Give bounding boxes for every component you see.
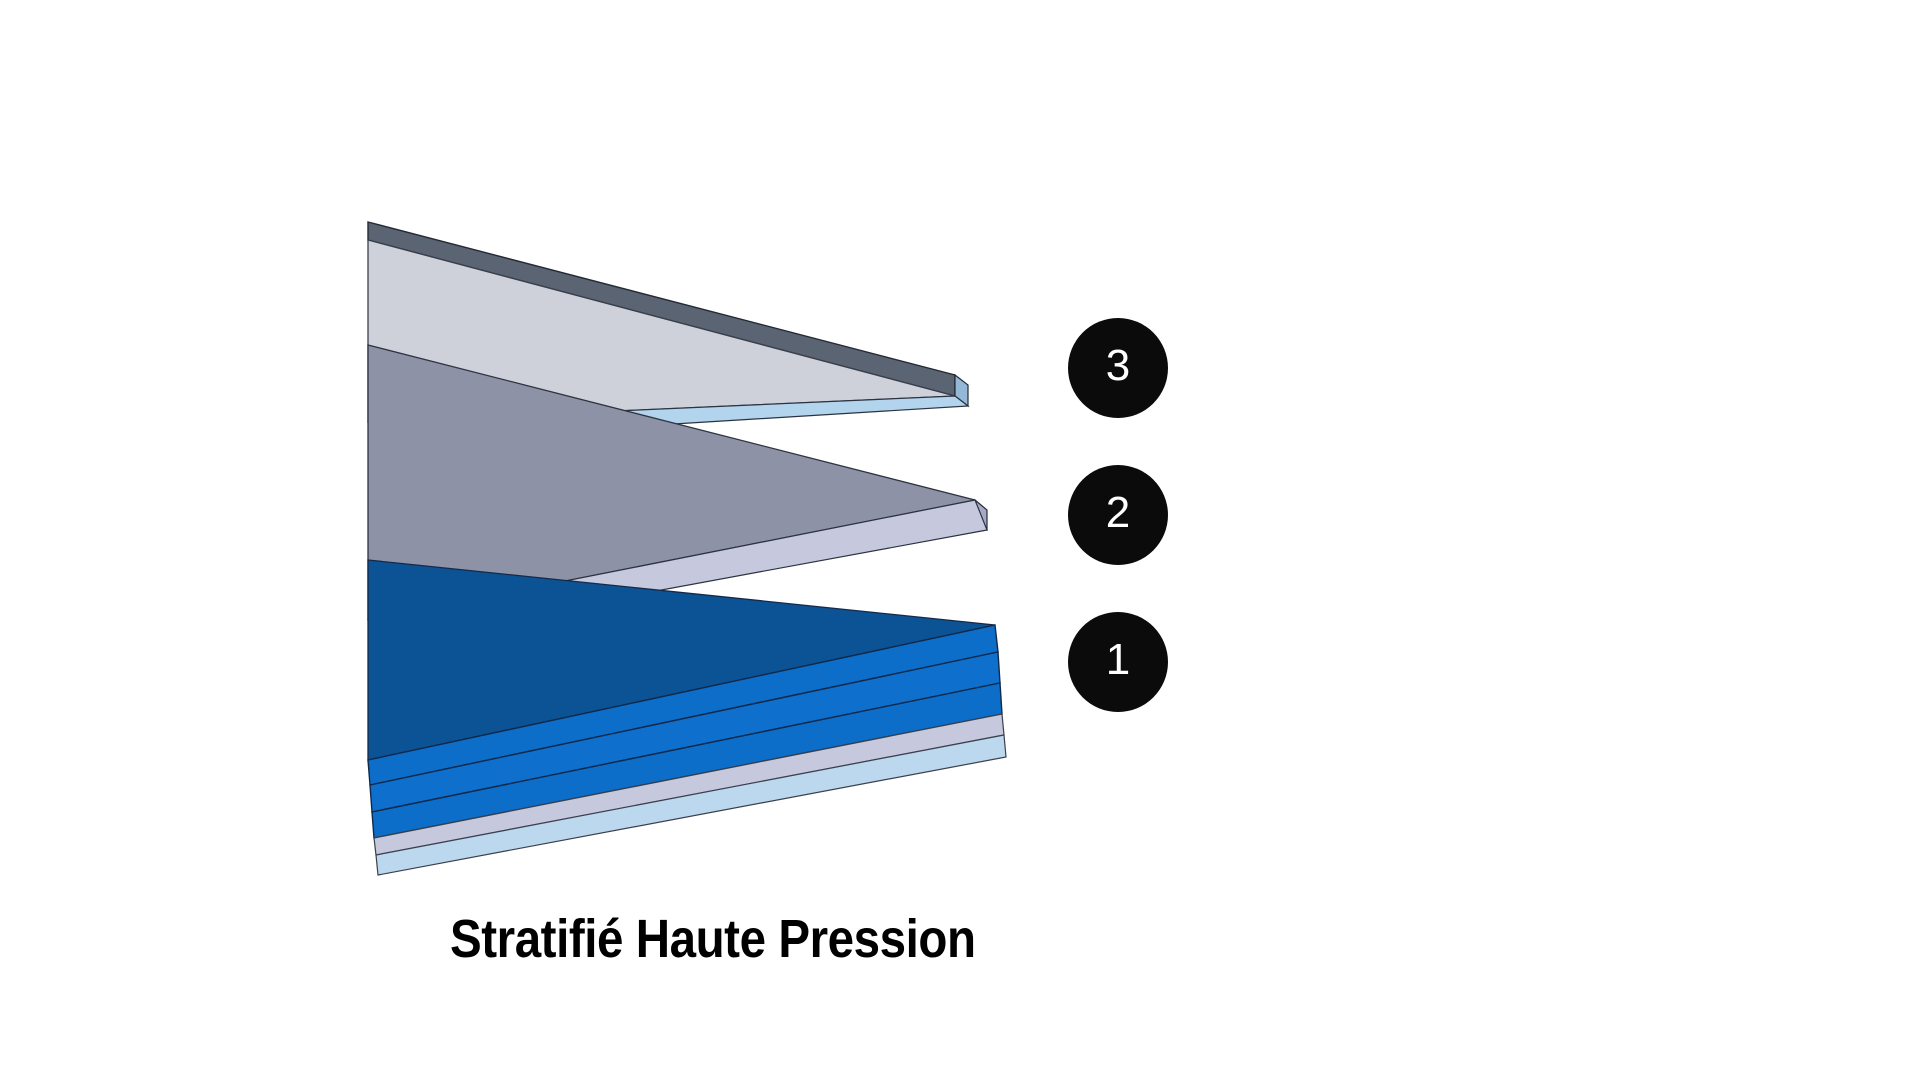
callout-badge-3-label: 3 [1106,344,1130,388]
callout-badge-2-label: 2 [1106,491,1130,535]
page-title: Stratifié Haute Pression [450,908,976,970]
callout-badge-3[interactable]: 3 [1068,318,1168,418]
callout-badge-1[interactable]: 1 [1068,612,1168,712]
diagram-canvas: 3 2 1 Stratifié Haute Pression [0,0,1920,1080]
callout-badge-2[interactable]: 2 [1068,465,1168,565]
callout-badge-1-label: 1 [1106,638,1130,682]
callout-list: 3 2 1 [1068,318,1178,718]
layer-group-1-core-stack [368,560,1006,875]
